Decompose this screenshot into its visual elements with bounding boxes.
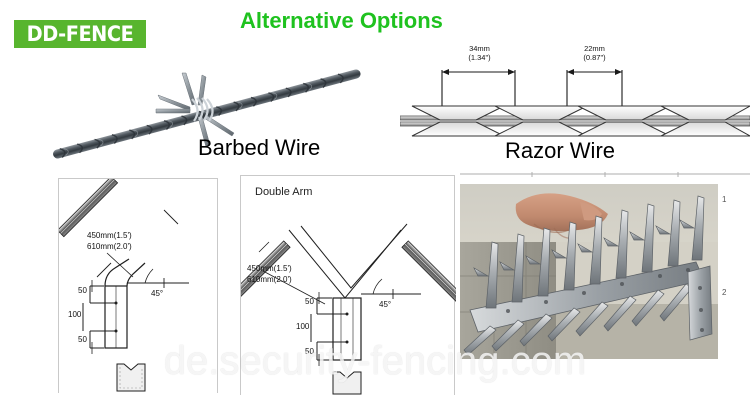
double-arm-diagram	[241, 176, 456, 396]
razor-wire-label: Razor Wire	[505, 138, 615, 164]
double-arm-dim-top: 50	[305, 297, 314, 306]
ruler-mark-2: 2	[722, 288, 726, 297]
wall-spikes-illustration	[460, 184, 718, 359]
razor-dimension-1-imperial: (1.34")	[468, 53, 490, 62]
razor-dimension-2-imperial: (0.87")	[583, 53, 605, 62]
single-arm-length-primary: 450mm(1.5')	[87, 231, 132, 240]
razor-dimension-1: 34mm (1.34")	[452, 44, 507, 62]
barbed-wire-label: Barbed Wire	[198, 135, 320, 161]
double-arm-length-secondary: 610mm(2.0')	[247, 275, 292, 284]
brand-logo-text: DD-FENCE	[27, 24, 134, 45]
razor-dimension-1-metric: 34mm	[469, 44, 490, 53]
barbed-wire-figure: Barbed Wire	[30, 55, 380, 170]
single-arm-dim-top: 50	[78, 286, 87, 295]
photo-top-rule	[460, 172, 750, 177]
brand-logo: DD-FENCE	[14, 20, 146, 48]
single-arm-panel: 450mm(1.5') 610mm(2.0') 45° 50 100 50	[58, 178, 218, 393]
double-arm-dim-mid: 100	[296, 322, 309, 331]
double-arm-length-primary: 450mm(1.5')	[247, 264, 292, 273]
wall-spikes-photo	[460, 184, 718, 359]
razor-wire-figure: 34mm (1.34") 22mm (0.87") Razor Wire	[400, 38, 750, 173]
single-arm-length-secondary: 610mm(2.0')	[87, 242, 132, 251]
razor-dimension-2-metric: 22mm	[584, 44, 605, 53]
single-arm-dim-bottom: 50	[78, 335, 87, 344]
razor-dimension-2: 22mm (0.87")	[567, 44, 622, 62]
double-arm-panel: Double Arm	[240, 175, 455, 395]
single-arm-dim-mid: 100	[68, 310, 81, 319]
ruler-mark-1: 1	[722, 195, 726, 204]
double-arm-angle: 45°	[379, 300, 391, 309]
product-spec-sheet: DD-FENCE Alternative Options	[0, 0, 750, 400]
double-arm-dim-bottom: 50	[305, 347, 314, 356]
single-arm-angle: 45°	[151, 289, 163, 298]
page-title: Alternative Options	[240, 8, 443, 34]
